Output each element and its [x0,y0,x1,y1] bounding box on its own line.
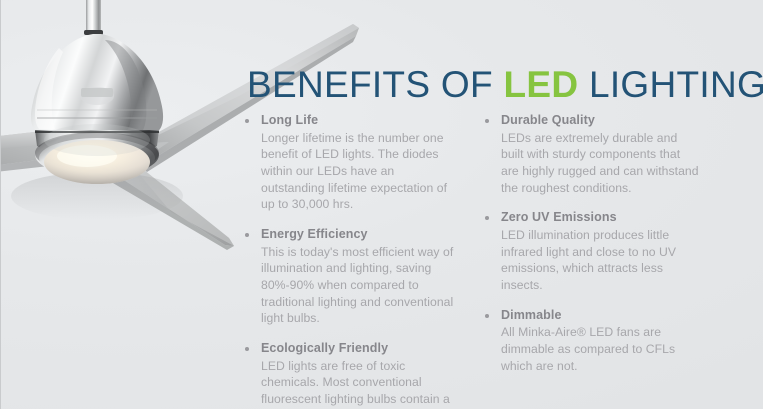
page-title: BENEFITS OF LED LIGHTING [247,66,763,103]
bullet-dot-icon [485,314,489,318]
benefit-body: This is today's most efficient way of il… [261,244,461,327]
bullet-dot-icon [245,119,249,123]
benefit-title: Zero UV Emissions [501,209,701,226]
benefit-item: Durable Quality LEDs are extremely durab… [481,112,701,196]
title-accent-led: LED [503,64,578,105]
benefit-title: Ecologically Friendly [261,340,461,357]
benefit-title: Energy Efficiency [261,226,461,243]
fan-motor-housing [31,34,163,132]
benefit-item: Ecologically Friendly LED lights are fre… [241,340,461,409]
bullet-dot-icon [485,119,489,123]
title-suffix: LIGHTING [578,64,763,105]
benefit-title: Long Life [261,112,461,129]
benefits-columns: Long Life Longer lifetime is the number … [241,112,701,409]
benefit-item: Zero UV Emissions LED illumination produ… [481,209,701,293]
benefit-item: Dimmable All Minka-Aire® LED fans are di… [481,307,701,375]
benefit-item: Long Life Longer lifetime is the number … [241,112,461,213]
bullet-dot-icon [485,216,489,220]
benefit-body: All Minka-Aire® LED fans are dimmable as… [501,324,701,374]
benefit-body: LEDs are extremely durable and built wit… [501,130,701,196]
title-prefix: BENEFITS OF [247,64,503,105]
benefit-title: Durable Quality [501,112,701,129]
benefit-body: LED lights are free of toxic chemicals. … [261,358,461,409]
benefit-body: Longer lifetime is the number one benefi… [261,130,461,213]
led-benefits-banner: BENEFITS OF LED LIGHTING Long Life Longe… [0,0,763,409]
bullet-dot-icon [245,347,249,351]
bullet-dot-icon [245,233,249,237]
fan-downrod [84,0,103,35]
benefits-column-left: Long Life Longer lifetime is the number … [241,112,461,409]
benefit-title: Dimmable [501,307,701,324]
benefits-column-right: Durable Quality LEDs are extremely durab… [481,112,701,409]
benefit-body: LED illumination produces little infrare… [501,227,701,293]
benefit-item: Energy Efficiency This is today's most e… [241,226,461,327]
